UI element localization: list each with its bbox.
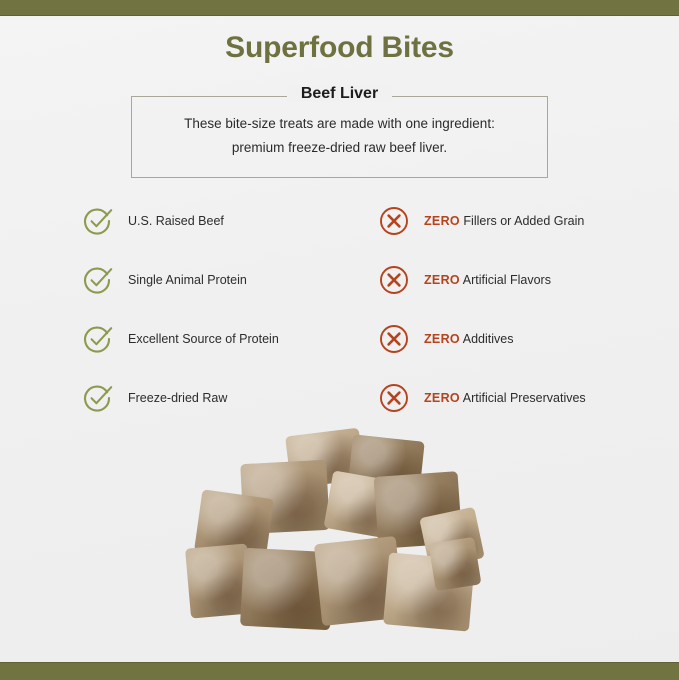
benefit-label: U.S. Raised Beef bbox=[128, 211, 224, 231]
exclusion-label: ZERO Artificial Flavors bbox=[424, 270, 551, 290]
exclusion-row: ZERO Fillers or Added Grain bbox=[378, 205, 678, 264]
info-box-line-1: These bite-size treats are made with one… bbox=[131, 112, 548, 136]
top-accent-bar bbox=[0, 0, 679, 16]
exclusion-row: ZERO Additives bbox=[378, 323, 678, 382]
x-circle-icon bbox=[378, 205, 410, 237]
exclusion-text: Fillers or Added Grain bbox=[463, 214, 584, 228]
benefit-label: Freeze-dried Raw bbox=[128, 388, 227, 408]
check-circle-icon bbox=[82, 323, 114, 355]
exclusion-label: ZERO Artificial Preservatives bbox=[424, 388, 586, 408]
exclusion-label: ZERO Additives bbox=[424, 329, 513, 349]
page-title: Superfood Bites bbox=[0, 31, 679, 65]
zero-prefix: ZERO bbox=[424, 214, 460, 228]
product-infographic: Superfood Bites Beef Liver These bite-si… bbox=[0, 0, 679, 679]
benefit-row: Single Animal Protein bbox=[82, 264, 382, 323]
benefit-row: U.S. Raised Beef bbox=[82, 205, 382, 264]
bottom-accent-bar bbox=[0, 662, 679, 680]
info-box-body: These bite-size treats are made with one… bbox=[131, 112, 548, 160]
exclusion-text: Artificial Flavors bbox=[463, 273, 551, 287]
features-section: U.S. Raised Beef Single Animal Protein bbox=[0, 205, 679, 425]
benefit-label: Excellent Source of Protein bbox=[128, 329, 279, 349]
exclusion-text: Artificial Preservatives bbox=[463, 391, 586, 405]
x-circle-icon bbox=[378, 264, 410, 296]
zero-prefix: ZERO bbox=[424, 273, 460, 287]
exclusions-column: ZERO Fillers or Added Grain ZERO Artific… bbox=[378, 205, 678, 441]
benefits-column: U.S. Raised Beef Single Animal Protein bbox=[82, 205, 382, 441]
zero-prefix: ZERO bbox=[424, 391, 460, 405]
check-circle-icon bbox=[82, 382, 114, 414]
x-circle-icon bbox=[378, 382, 410, 414]
benefit-label: Single Animal Protein bbox=[128, 270, 247, 290]
exclusion-row: ZERO Artificial Flavors bbox=[378, 264, 678, 323]
exclusion-label: ZERO Fillers or Added Grain bbox=[424, 211, 584, 231]
benefit-row: Excellent Source of Protein bbox=[82, 323, 382, 382]
zero-prefix: ZERO bbox=[424, 332, 460, 346]
check-circle-icon bbox=[82, 264, 114, 296]
product-image bbox=[180, 428, 500, 633]
exclusion-text: Additives bbox=[463, 332, 514, 346]
x-circle-icon bbox=[378, 323, 410, 355]
info-box-line-2: premium freeze-dried raw beef liver. bbox=[131, 136, 548, 160]
check-circle-icon bbox=[82, 205, 114, 237]
